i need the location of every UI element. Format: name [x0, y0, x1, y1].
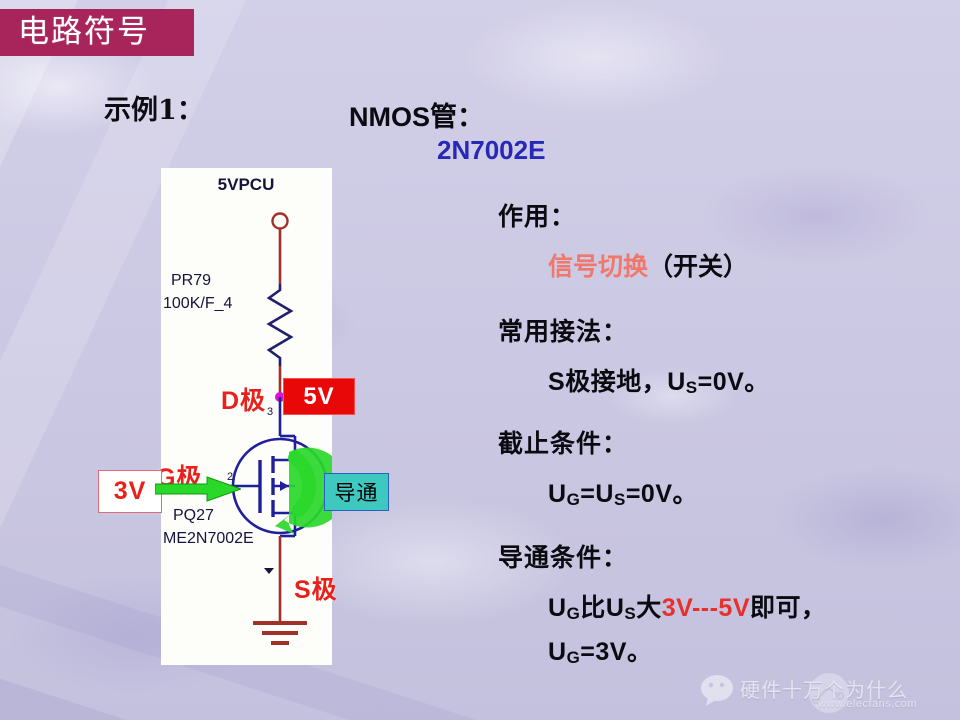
note-connection-s: S	[548, 368, 565, 396]
badge-5v: 5V	[283, 378, 355, 415]
badge-conducting: 导通	[324, 473, 389, 511]
note-conduction-u1: U	[548, 594, 567, 622]
slide-title-banner: 电路符号	[0, 9, 194, 56]
mosfet-part-label: ME2N7002E	[163, 530, 254, 547]
note-conduction-line2: UG=3V。	[548, 632, 827, 668]
example-label: 示例1：	[104, 88, 204, 127]
note-connection-sub: S	[686, 378, 698, 397]
watermark: 硬件十万个为什么 www.elecfans.com	[700, 672, 950, 716]
note-cutoff-eq1: =	[580, 480, 595, 508]
badge-3v: 3V	[98, 470, 162, 513]
note-cutoff-u2: U	[595, 480, 614, 508]
note-conduction-heading: 导通条件：	[498, 538, 827, 574]
note-cutoff-sub1: G	[567, 490, 581, 509]
note-conduction-u3: U	[548, 638, 567, 666]
label-drain-pin: D极	[221, 381, 266, 417]
badge-conducting-text: 导通	[335, 477, 379, 507]
note-connection-u: U	[667, 368, 686, 396]
note-connection-suffix: =0V。	[698, 368, 770, 396]
badge-3v-text: 3V	[114, 477, 147, 506]
label-source-pin: S极	[294, 570, 338, 606]
note-conduction-sub1: G	[567, 604, 581, 623]
note-conduction-sub2: S	[624, 604, 636, 623]
pin-number-3: 3	[267, 406, 273, 418]
note-function-rest: （开关）	[648, 252, 748, 281]
note-connection-value: S极接地，US=0V。	[548, 362, 770, 398]
note-cutoff-heading: 截止条件：	[498, 424, 698, 460]
note-conduction-tail: 即可，	[750, 593, 827, 622]
note-conduction-tail2: =3V。	[580, 638, 652, 666]
note-conduction-sub3: G	[567, 648, 581, 667]
badge-5v-text: 5V	[303, 383, 334, 411]
mosfet-ref-label: PQ27	[173, 507, 214, 524]
nmos-title: NMOS管：	[349, 95, 484, 134]
note-function: 作用： 信号切换（开关）	[498, 197, 748, 283]
rail-terminal-icon	[273, 214, 288, 229]
note-cutoff-u1: U	[548, 480, 567, 508]
note-connection: 常用接法： S极接地，US=0V。	[498, 312, 770, 398]
note-cutoff-sub2: S	[614, 490, 626, 509]
note-function-highlight: 信号切换	[548, 252, 648, 281]
note-cutoff-suffix: =0V。	[626, 480, 698, 508]
note-conduction-mid2: 大	[636, 593, 662, 622]
resistor-icon	[269, 284, 291, 366]
slide-title-text: 电路符号	[18, 17, 150, 48]
note-conduction-mid1: 比	[580, 593, 606, 622]
note-conduction-hi1: 3V	[662, 594, 692, 622]
input-signal-arrow-icon	[155, 476, 241, 502]
note-conduction-u2: U	[606, 594, 625, 622]
note-conduction-hi2: 5V	[718, 594, 750, 622]
pin-number-1-marker	[264, 568, 274, 574]
resistor-value-label: 100K/F_4	[163, 295, 232, 312]
resistor-ref-label: PR79	[171, 272, 211, 289]
slide-canvas: 电路符号 示例1： NMOS管： 2N7002E 作用： 信号切换（开关） 常用…	[0, 0, 960, 720]
note-connection-heading: 常用接法：	[498, 312, 770, 348]
note-cutoff-value: UG=US=0V。	[548, 474, 698, 510]
note-conduction: 导通条件： UG比US大3V---5V即可， UG=3V。	[498, 538, 827, 668]
watermark-site: www.elecfans.com	[818, 698, 917, 710]
note-function-heading: 作用：	[498, 197, 748, 233]
note-function-value: 信号切换（开关）	[548, 247, 748, 283]
rail-label: 5VPCU	[218, 175, 275, 194]
note-conduction-dashes: ---	[692, 594, 718, 622]
note-conduction-line1: UG比US大3V---5V即可，	[548, 588, 827, 624]
mosfet-bulk-arrow-icon	[280, 481, 289, 491]
wechat-icon	[700, 674, 740, 708]
note-connection-mid: 极接地，	[565, 367, 667, 396]
note-cutoff: 截止条件： UG=US=0V。	[498, 424, 698, 510]
nmos-part-number: 2N7002E	[437, 135, 545, 166]
